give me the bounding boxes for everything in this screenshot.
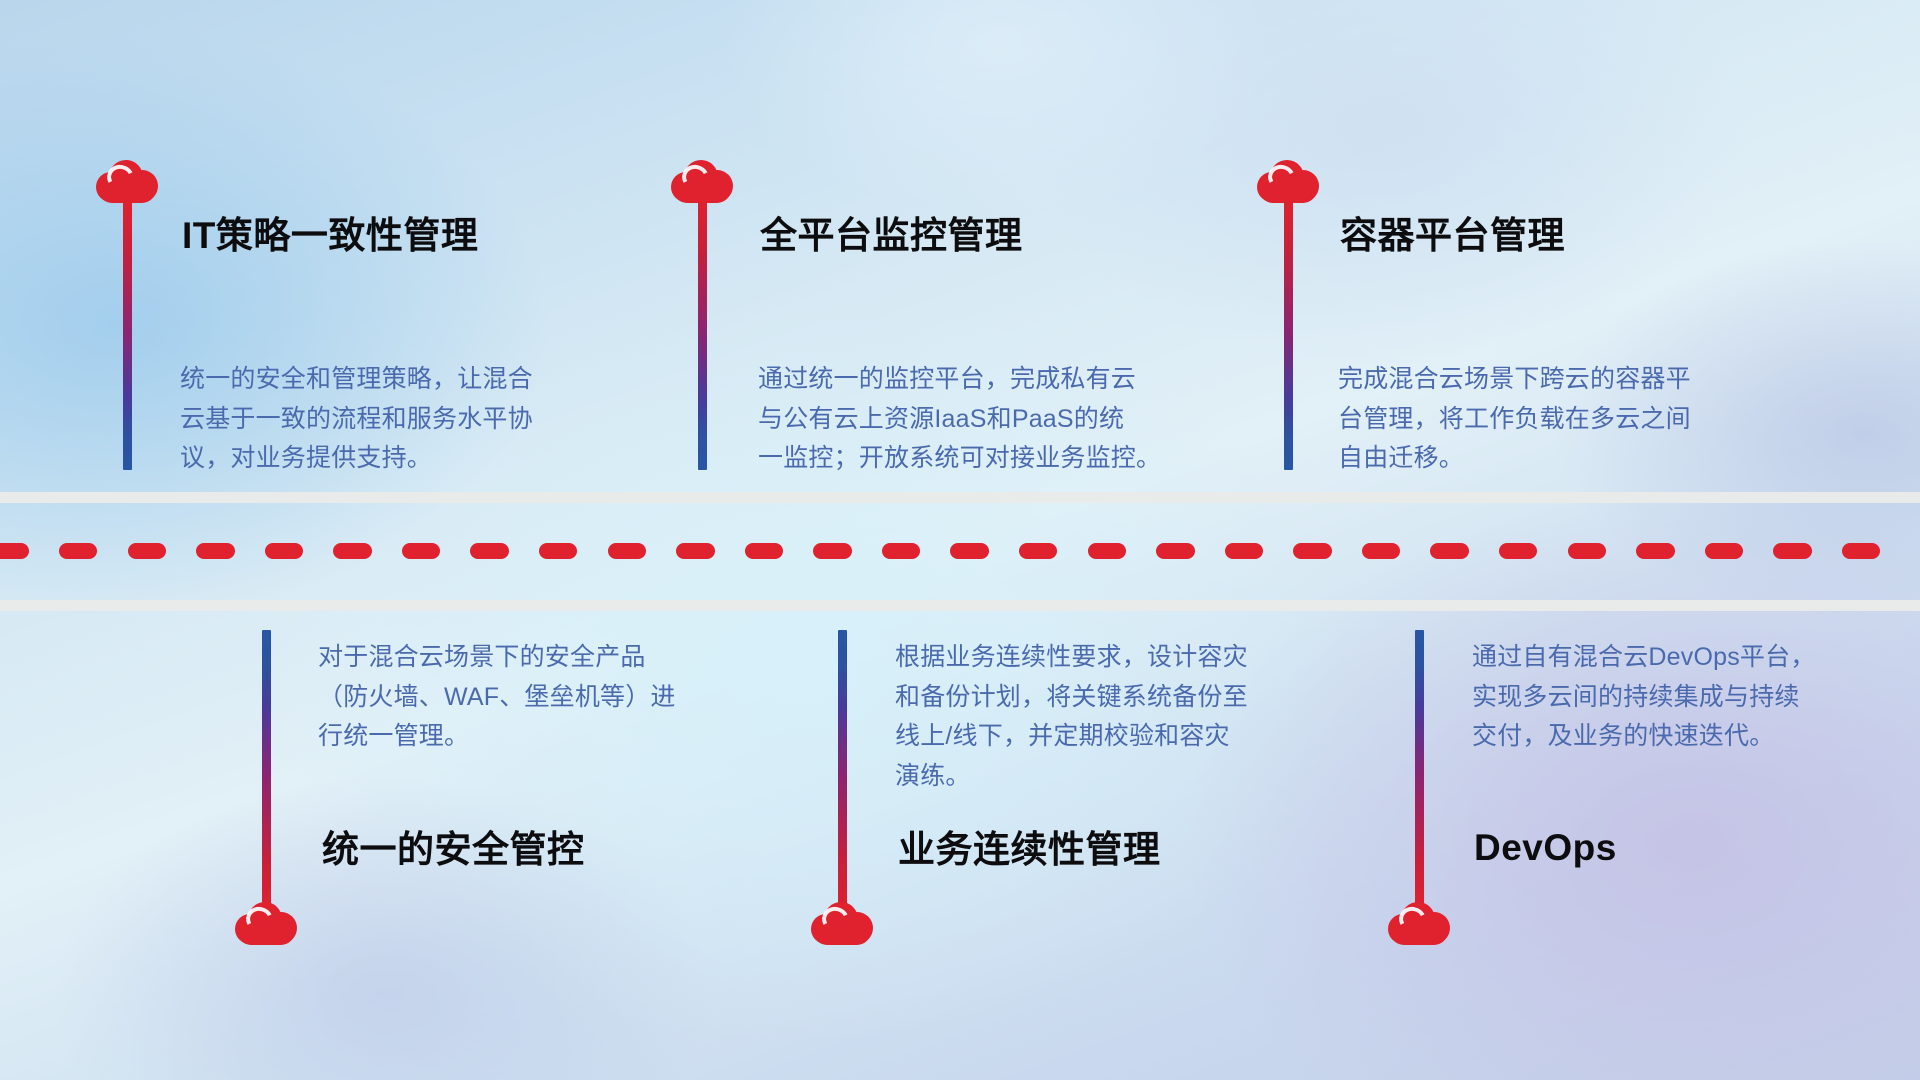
connector-stem <box>123 200 132 470</box>
road-dash-segment <box>1293 543 1331 559</box>
connector-stem <box>1284 200 1293 470</box>
bottom-item-1-description: 对于混合云场景下的安全产品 （防火墙、WAF、堡垒机等）进 行统一管理。 <box>318 638 738 757</box>
road-dash-segment <box>1156 543 1194 559</box>
top-item-1-title: IT策略一致性管理 <box>182 216 478 257</box>
cloud-icon <box>1257 160 1319 204</box>
connector-stem <box>262 630 271 912</box>
road-dash-segment <box>1430 543 1468 559</box>
infographic-canvas: IT策略一致性管理 统一的安全和管理策略，让混合 云基于一致的流程和服务水平协 … <box>0 0 1920 1080</box>
top-item-3-title: 容器平台管理 <box>1340 216 1565 257</box>
bottom-item-2-title: 业务连续性管理 <box>898 830 1161 871</box>
road-dash-segment <box>1568 543 1606 559</box>
road-dash-segment <box>0 543 29 559</box>
connector-stem <box>1415 630 1424 912</box>
road-dash-segment <box>402 543 440 559</box>
road-dash-segment <box>1636 543 1674 559</box>
road-dash-segment <box>1705 543 1743 559</box>
cloud-icon <box>811 902 873 946</box>
road-line-lower <box>0 600 1920 611</box>
road-dash-segment <box>608 543 646 559</box>
road-dash-segment <box>265 543 303 559</box>
top-item-2-title: 全平台监控管理 <box>760 216 1023 257</box>
cloud-icon <box>96 160 158 204</box>
top-item-2-description: 通过统一的监控平台，完成私有云 与公有云上资源IaaS和PaaS的统 一监控；开… <box>758 360 1198 479</box>
bottom-item-2-description: 根据业务连续性要求，设计容灾 和备份计划，将关键系统备份至 线上/线下，并定期校… <box>895 638 1325 796</box>
top-item-3-description: 完成混合云场景下跨云的容器平 台管理，将工作负载在多云之间 自由迁移。 <box>1338 360 1768 479</box>
road-dashed-centerline <box>0 543 1920 559</box>
road-dash-segment <box>196 543 234 559</box>
bottom-item-3-title: DevOps <box>1474 828 1617 869</box>
road-dash-segment <box>1773 543 1811 559</box>
road-dash-segment <box>676 543 714 559</box>
road-dash-segment <box>333 543 371 559</box>
road-dash-segment <box>1842 543 1880 559</box>
connector-stem <box>838 630 847 912</box>
connector-stem <box>698 200 707 470</box>
road-dash-segment <box>1225 543 1263 559</box>
road-dash-segment <box>539 543 577 559</box>
road-dash-segment <box>745 543 783 559</box>
road-dash-segment <box>1019 543 1057 559</box>
road-dash-segment <box>1088 543 1126 559</box>
road-dash-segment <box>470 543 508 559</box>
bottom-item-1-title: 统一的安全管控 <box>322 830 585 871</box>
top-item-1-description: 统一的安全和管理策略，让混合 云基于一致的流程和服务水平协 议，对业务提供支持。 <box>180 360 610 479</box>
road-dash-segment <box>813 543 851 559</box>
cloud-icon <box>671 160 733 204</box>
road-dash-segment <box>59 543 97 559</box>
road-dash-segment <box>1362 543 1400 559</box>
road-dash-segment <box>1499 543 1537 559</box>
road-dash-segment <box>882 543 920 559</box>
road-line-upper <box>0 492 1920 503</box>
cloud-icon <box>235 902 297 946</box>
road-dash-segment <box>128 543 166 559</box>
bottom-item-3-description: 通过自有混合云DevOps平台， 实现多云间的持续集成与持续 交付，及业务的快速… <box>1472 638 1892 757</box>
cloud-icon <box>1388 902 1450 946</box>
road-dash-segment <box>950 543 988 559</box>
